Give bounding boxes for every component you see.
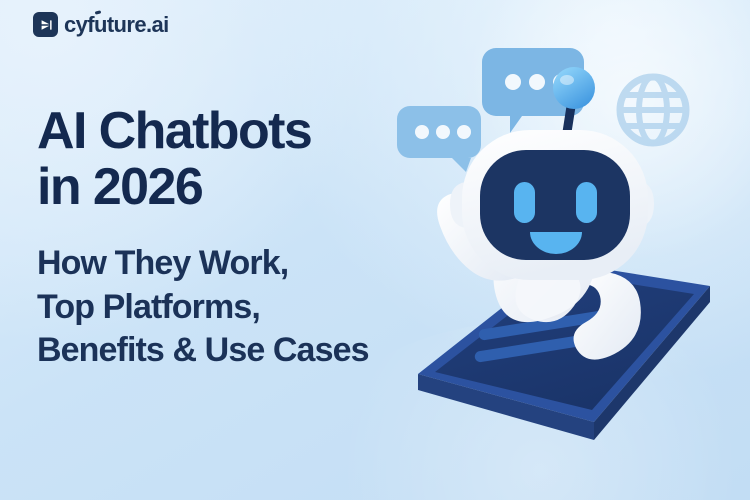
robot-head [450,130,654,280]
marketing-banner: cyfuture.ai AI Chatbots in 2026 How They… [0,0,750,500]
page-subtitle: How They Work, Top Platforms, Benefits &… [37,242,369,373]
play-arrow-icon [33,12,58,37]
brand-logo[interactable]: cyfuture.ai [33,12,169,37]
page-title: AI Chatbots in 2026 [37,104,311,215]
hero-illustration [370,0,750,500]
globe-icon [620,77,686,143]
brand-logo-text: cyfuture.ai [64,14,169,36]
chat-bubble-small [397,106,481,172]
robot-eye-right [576,182,597,223]
robot-eye-left [514,182,535,223]
